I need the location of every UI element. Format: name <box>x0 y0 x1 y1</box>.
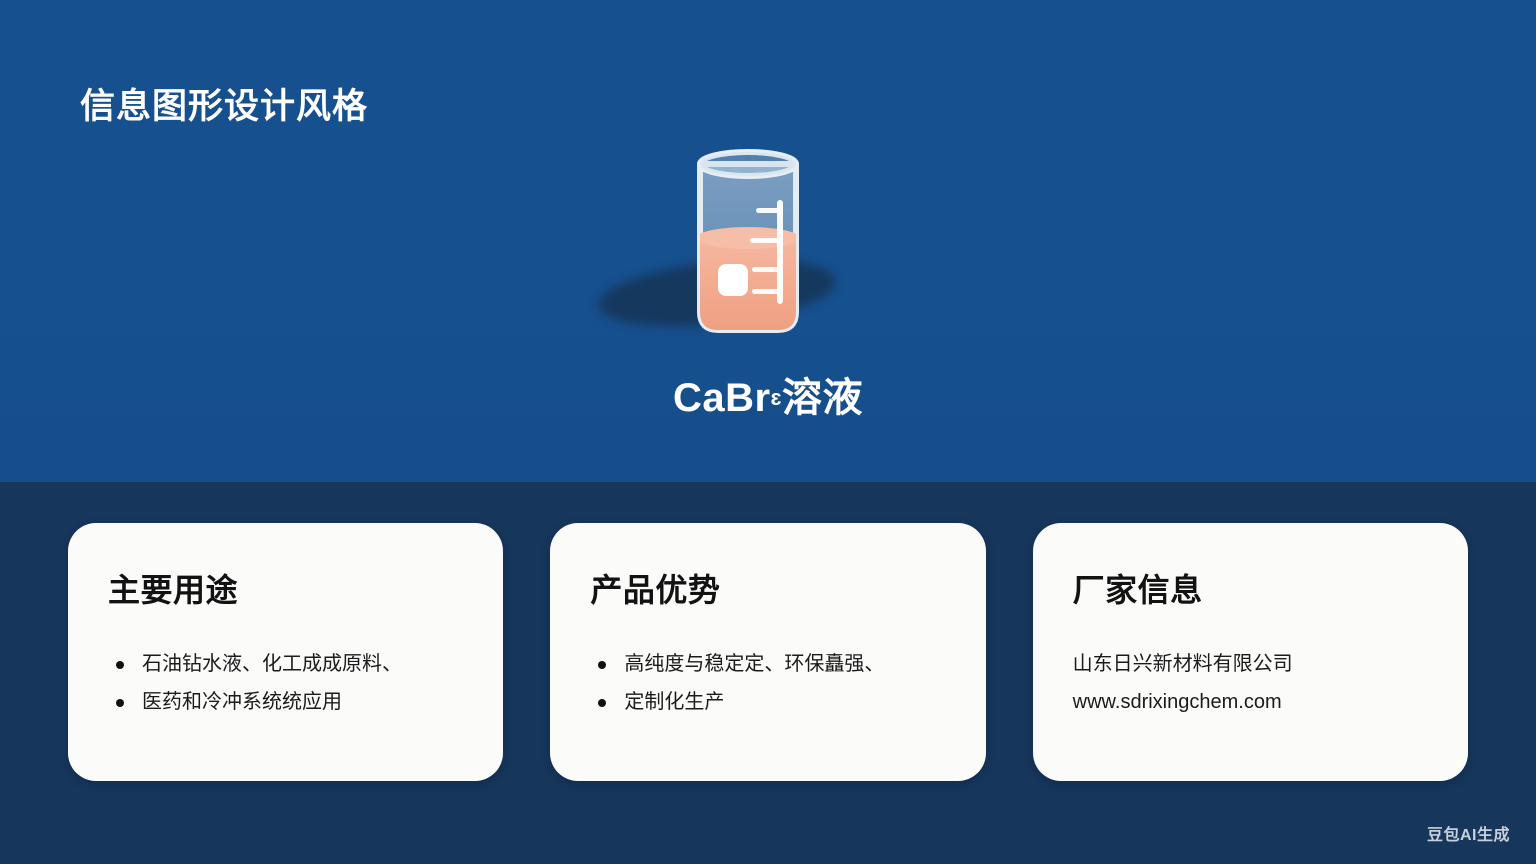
slide-canvas: 信息图形设计风格 <box>0 0 1536 864</box>
card-title: 主要用途 <box>108 565 467 611</box>
company-website[interactable]: www.sdrixingchem.com <box>1073 683 1432 721</box>
info-card-manufacturer[interactable]: 厂家信息 山东日兴新材料有限公司 www.sdrixingchem.com <box>1033 523 1468 781</box>
list-item: 医药和冷冲系统统应用 <box>108 683 467 721</box>
page-title: 信息图形设计风格 <box>80 78 368 129</box>
list-item: 高纯度与稳定定、环保矗强、 <box>590 645 949 683</box>
card-text-list: 山东日兴新材料有限公司 www.sdrixingchem.com <box>1073 645 1432 721</box>
card-title: 厂家信息 <box>1073 565 1432 611</box>
product-name-formula: CaBr <box>673 376 771 420</box>
info-card-advantages[interactable]: 产品优势 高纯度与稳定定、环保矗强、 定制化生产 <box>550 523 985 781</box>
list-item: 定制化生产 <box>590 683 949 721</box>
card-bullet-list: 高纯度与稳定定、环保矗强、 定制化生产 <box>590 645 949 721</box>
product-name-subscript: ɛ <box>771 385 782 410</box>
info-cards: 主要用途 石油钻水液、化工成成原料、 医药和冷冲系统统应用 产品优势 高纯度与稳… <box>68 523 1468 781</box>
company-name: 山东日兴新材料有限公司 <box>1073 645 1432 683</box>
product-name: CaBrɛ溶液 <box>0 365 1536 423</box>
info-card-usage[interactable]: 主要用途 石油钻水液、化工成成原料、 医药和冷冲系统统应用 <box>68 523 503 781</box>
beaker-icon <box>592 134 892 354</box>
beaker-illustration <box>592 134 892 354</box>
hero-band: 信息图形设计风格 <box>0 0 1536 482</box>
card-title: 产品优势 <box>590 565 949 611</box>
product-name-suffix: 溶液 <box>782 376 863 420</box>
list-item: 石油钻水液、化工成成原料、 <box>108 645 467 683</box>
card-bullet-list: 石油钻水液、化工成成原料、 医药和冷冲系统统应用 <box>108 645 467 721</box>
watermark: 豆包AI生成 <box>1427 821 1510 845</box>
